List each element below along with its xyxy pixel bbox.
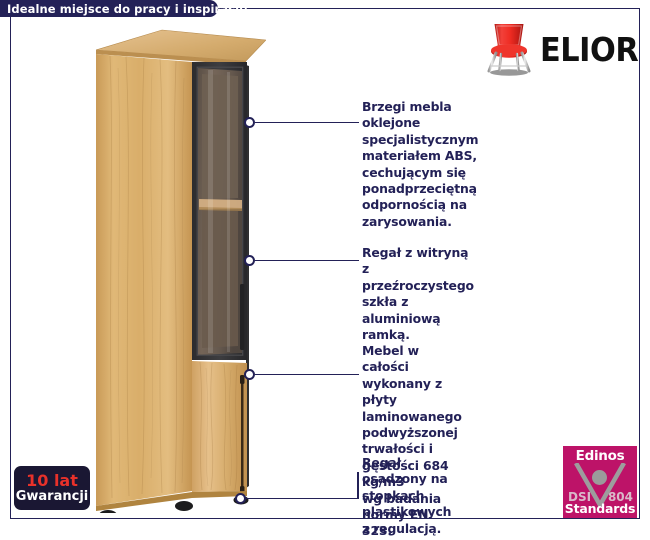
brand-name: ELIOR — [540, 33, 638, 66]
edinos-title: Edinos — [563, 448, 637, 464]
callout-leader-line — [255, 374, 359, 375]
product-image-cabinet — [96, 28, 266, 513]
callout-leader-line — [246, 498, 359, 499]
callout-dot-adjustable-feet[interactable] — [235, 493, 246, 504]
warranty-label: Gwarancji — [16, 489, 89, 504]
red-chair-icon — [480, 20, 538, 78]
callout-text-edges-abs: Brzegi mebla oklejone specjalistycznym m… — [362, 99, 478, 230]
certification-badge-edinos: Edinos DSI 804 Standards — [563, 446, 637, 518]
callout-text-adjustable-feet: Regał osadzony na stopkach plastikowych … — [362, 455, 451, 537]
infographic-page: Idealne miejsce do pracy i inspiracji! — [0, 0, 650, 534]
callout-leader-riser — [357, 472, 359, 499]
callout-leader-line — [255, 260, 359, 261]
headline-banner: Idealne miejsce do pracy i inspiracji! — [0, 0, 218, 17]
headline-text: Idealne miejsce do pracy i inspiracji! — [7, 2, 249, 16]
callout-text-glass-display: Regał z witryną z przeźroczystego szkła … — [362, 245, 474, 343]
brand-logo: ELIOR — [480, 18, 632, 80]
callout-dot-edges-abs[interactable] — [244, 117, 255, 128]
callout-dot-glass-display[interactable] — [244, 255, 255, 266]
warranty-years: 10 lat — [26, 472, 78, 489]
edinos-subtitle: Standards — [563, 501, 637, 516]
edinos-dot-icon — [592, 470, 607, 485]
callout-dot-laminated-board[interactable] — [244, 369, 255, 380]
callout-leader-line — [255, 122, 359, 123]
warranty-badge: 10 lat Gwarancji — [14, 466, 90, 510]
